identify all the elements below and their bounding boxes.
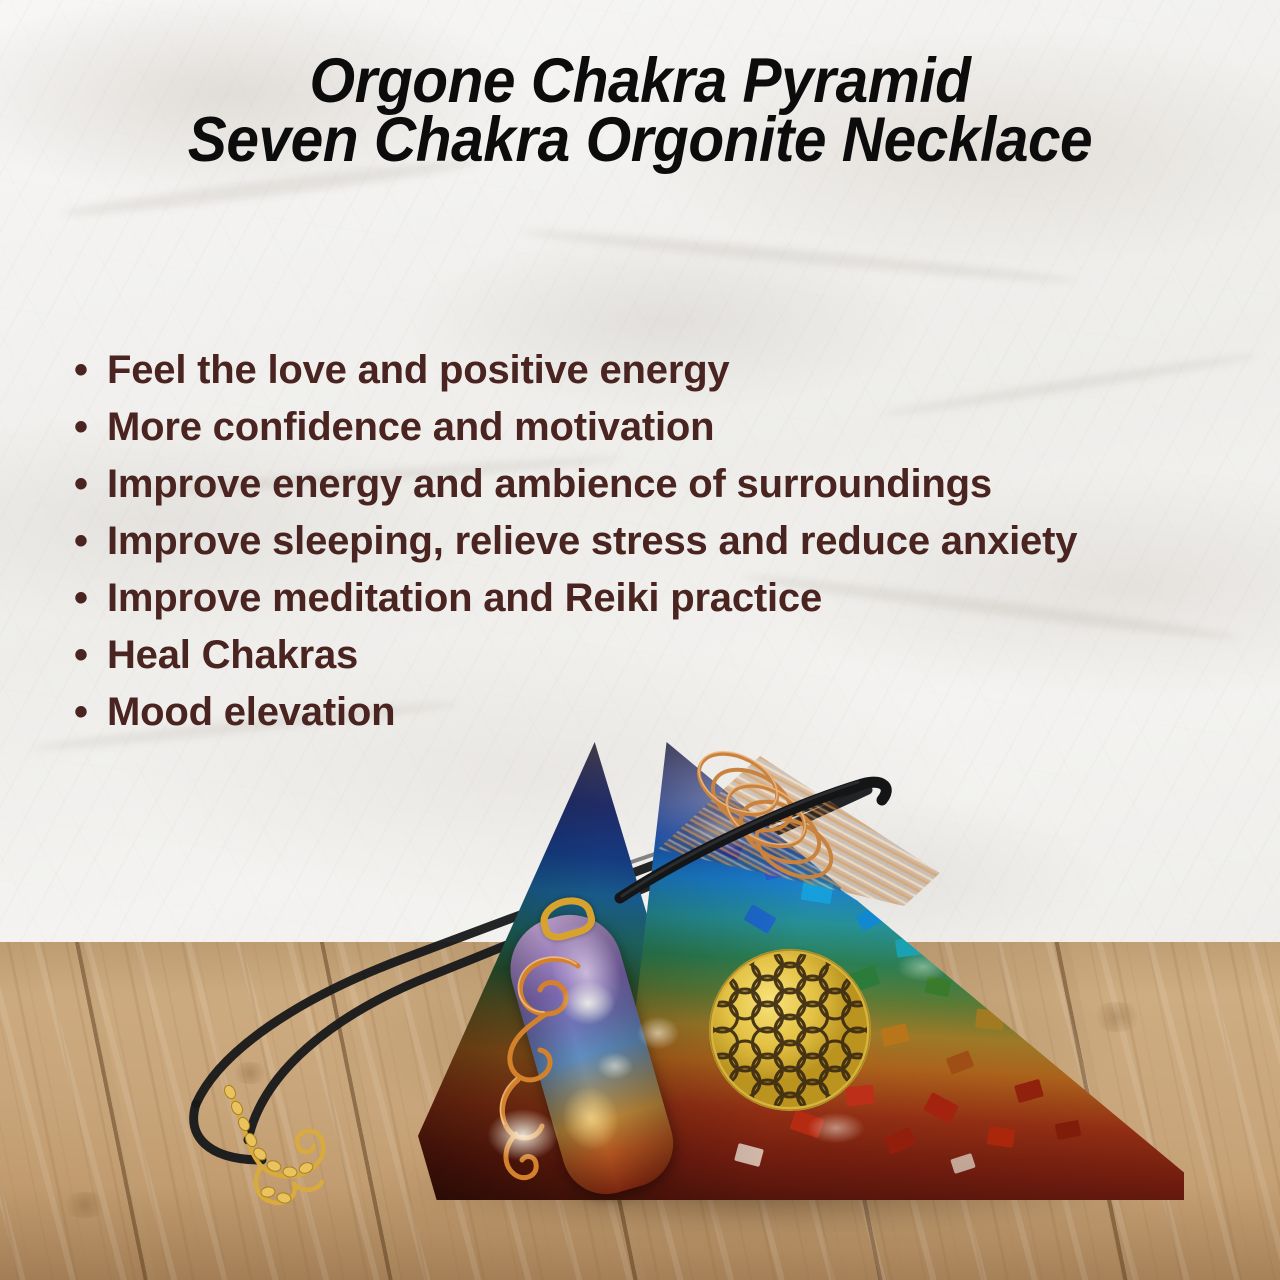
product-marketing-image: Orgone Chakra Pyramid Seven Chakra Orgon…: [0, 0, 1280, 1280]
gold-chain-extender: [200, 1080, 380, 1210]
product-photo-group: [0, 0, 1280, 1280]
sparkle-highlight: [486, 1108, 560, 1162]
copper-wire-spiral-icon: [470, 930, 670, 1210]
sparkle-highlight: [596, 1052, 634, 1080]
sparkle-highlight: [560, 980, 616, 1026]
sparkle-highlight: [636, 1016, 680, 1050]
flower-of-life-medallion: [708, 948, 872, 1112]
